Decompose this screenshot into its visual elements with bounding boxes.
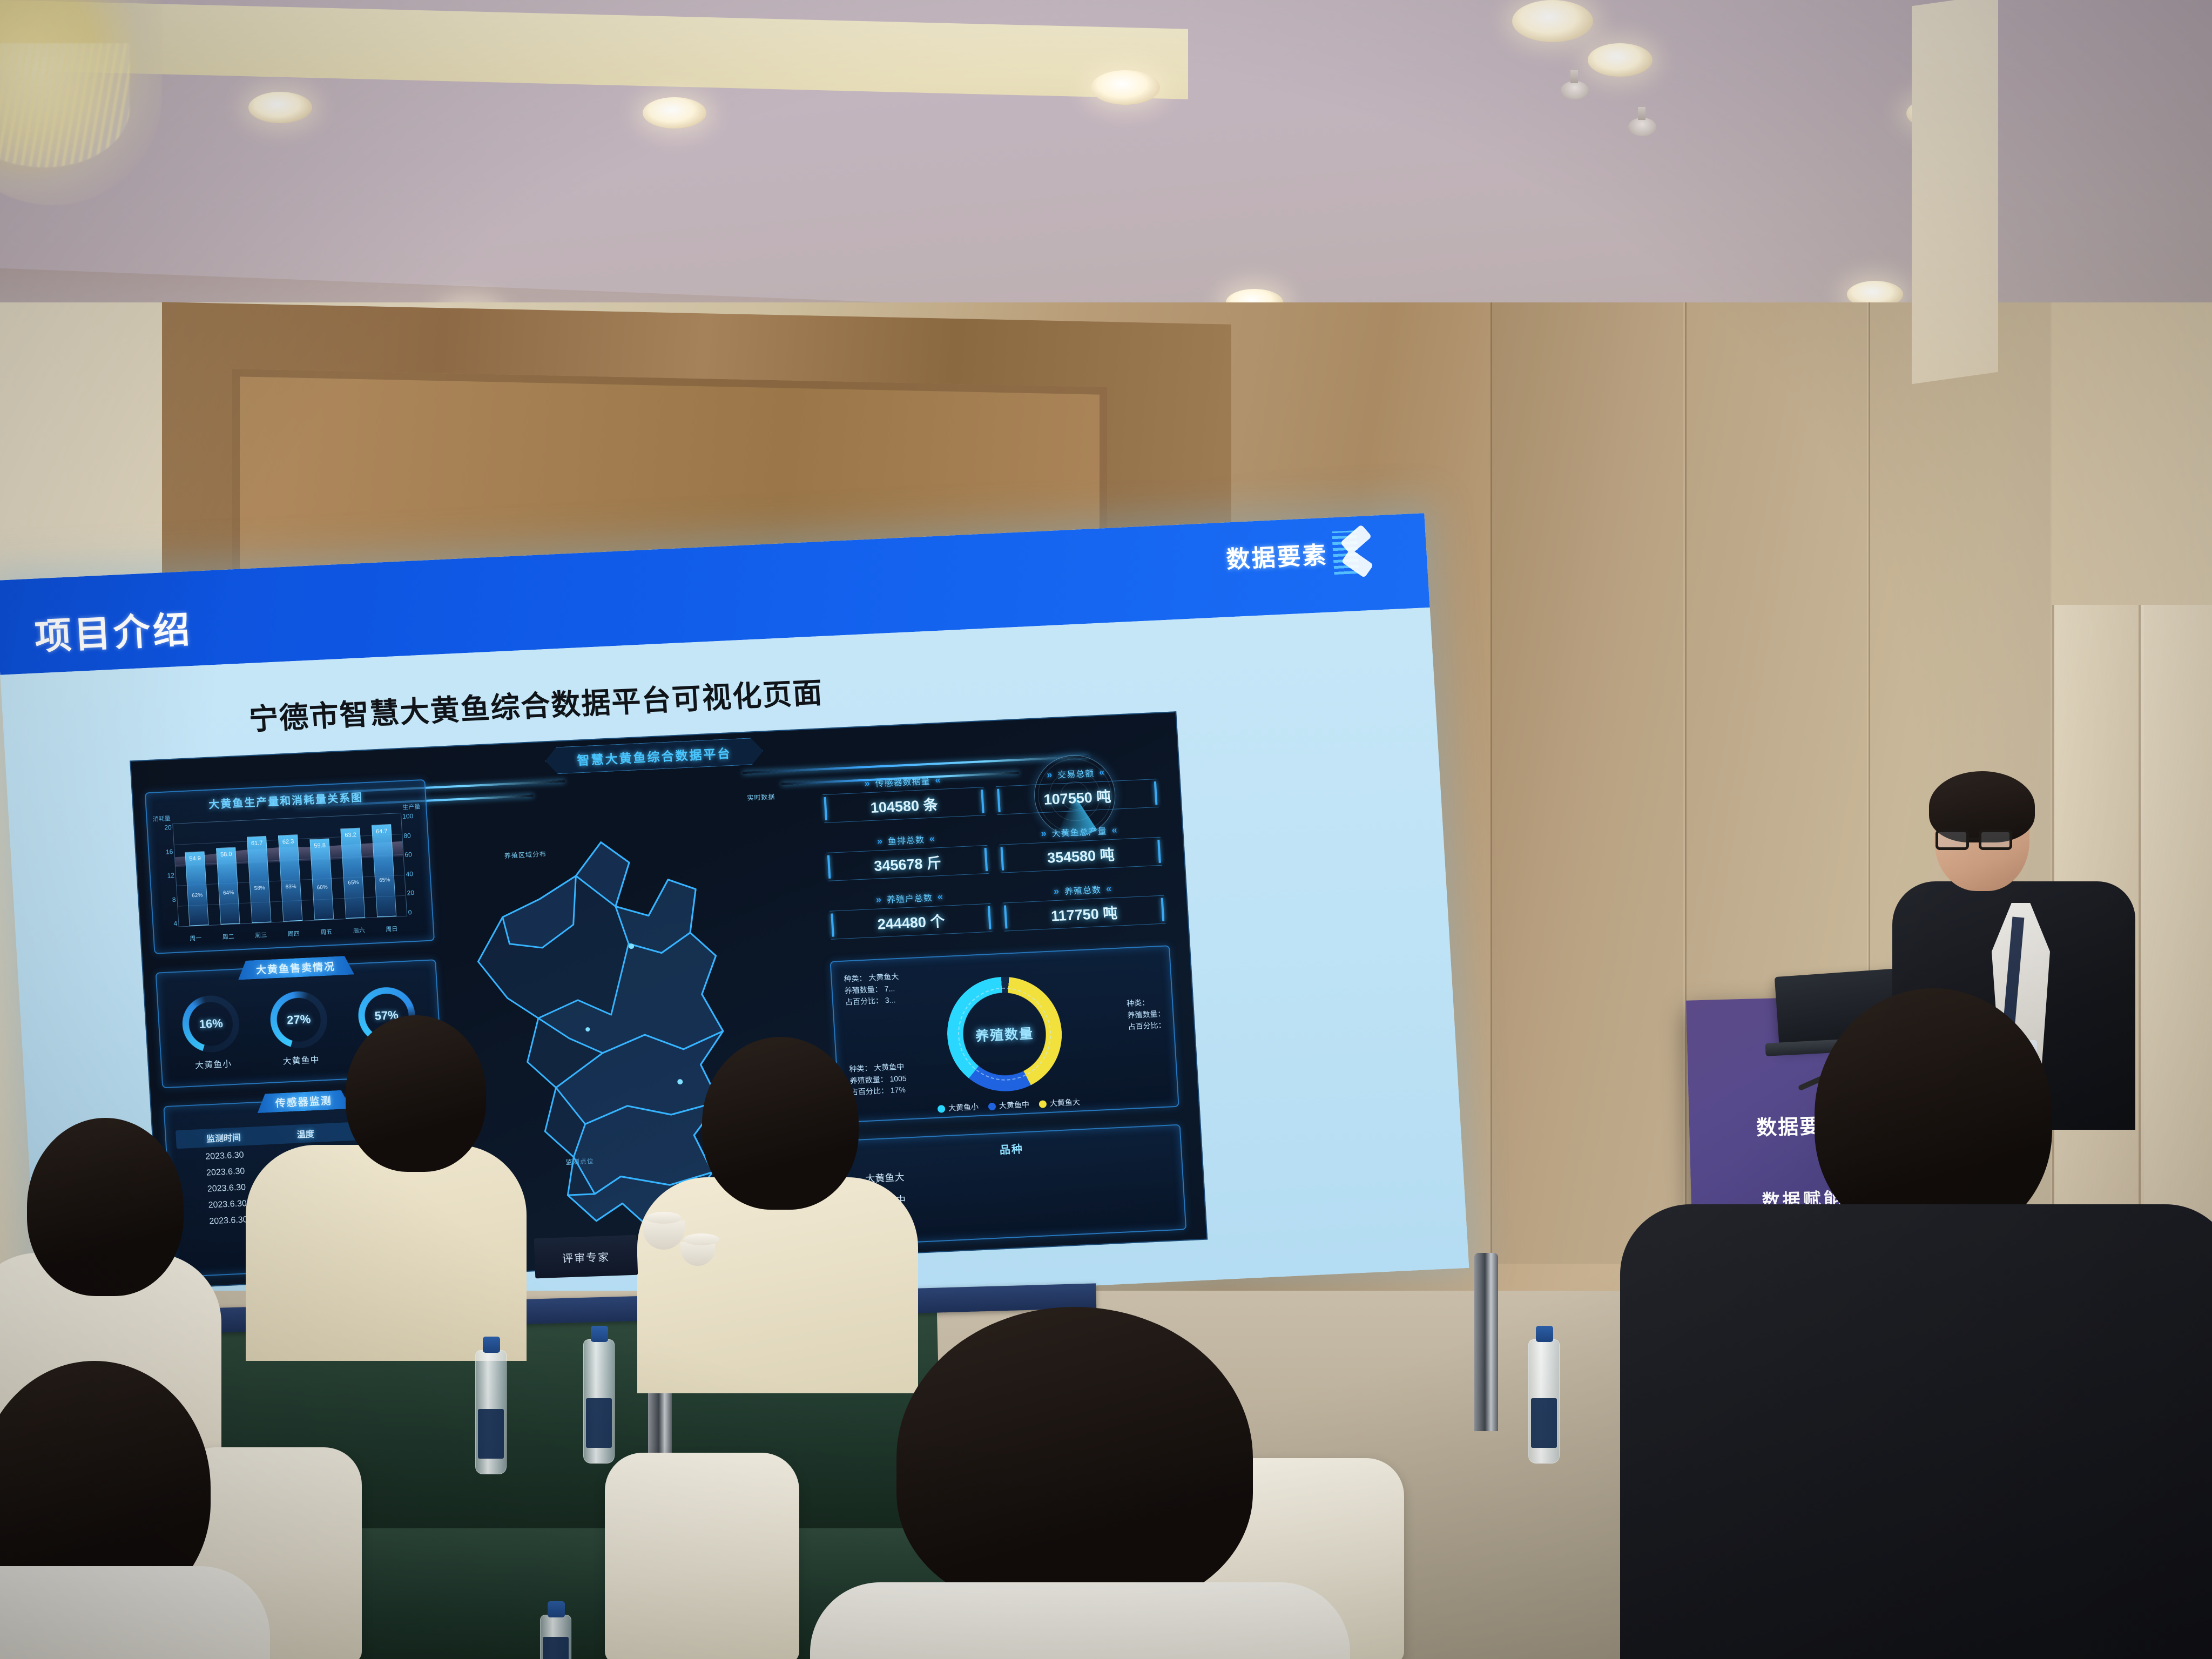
x-tick: 周三 [255, 930, 267, 940]
kpi-label: 传感器数据量 [875, 774, 930, 790]
chandelier-icon [0, 0, 162, 205]
conference-room-scene: 项目介绍 数据要素 宁德市智慧大黄鱼综合数据平台可视化页面 智慧大黄鱼综合数据平… [0, 0, 2212, 1659]
bottle-label [586, 1398, 612, 1448]
gauge-value: 27% [286, 1012, 311, 1027]
kpi-label: 交易总额 [1057, 766, 1095, 780]
aquaculture-donut-panel: 养殖数量 种类： 大黄鱼大 养殖数量： 7... 占百分比： 3... 种类： … [830, 945, 1179, 1123]
donut-note-top-left: 种类： 大黄鱼大 养殖数量： 7... 占百分比： 3... [844, 971, 901, 1009]
kpi-value: 345678 斤 [826, 845, 989, 881]
kpi-grid: » 传感器数据量 « 104580 条 » [821, 763, 1166, 954]
x-tick: 周四 [287, 929, 300, 938]
legend-item: 大黄鱼大 [1038, 1096, 1080, 1109]
y2-tick: 60 [404, 851, 412, 859]
name-card: 评审专家 [534, 1235, 638, 1279]
chevron-left-icon: « [1111, 824, 1118, 835]
kpi-card: » 大黄鱼总产量 « 354580 吨 [999, 821, 1163, 873]
gauge-label: 大黄鱼中 [272, 1052, 331, 1068]
chevron-left-icon: « [937, 891, 943, 902]
kpi-number: 117750 [1050, 906, 1099, 924]
cell: 2023.6.30 [184, 1165, 267, 1180]
gauge-value: 16% [199, 1016, 224, 1031]
column-header: 监测时间 [182, 1129, 265, 1146]
gauge-panel-title: 大黄鱼售卖情况 [237, 955, 354, 980]
ceiling-downlight-icon [1091, 70, 1160, 105]
bar-percent-label: 63% [285, 884, 296, 891]
y-tick: 20 [164, 824, 172, 832]
bar-value-label: 62.3 [282, 839, 294, 846]
audience-person [246, 1145, 527, 1361]
smoke-detector-icon [1561, 81, 1589, 99]
x-tick: 周日 [386, 925, 398, 934]
foreground-shoulders-left [0, 1566, 270, 1659]
variety-title: 品种 [999, 1140, 1024, 1157]
audience-head [346, 1015, 486, 1172]
kpi-number: 345678 [874, 856, 923, 874]
note-line: 占百分比： 3... [845, 994, 900, 1008]
ceiling-downlight-icon [1512, 0, 1593, 42]
kpi-label: 大黄鱼总产量 [1051, 824, 1107, 839]
kpi-label: 养殖户总数 [886, 891, 933, 906]
bar-value-label: 58.0 [220, 851, 232, 858]
water-bottle-icon [583, 1339, 615, 1464]
kpi-unit: 斤 [926, 855, 942, 872]
kpi-unit: 吨 [1102, 905, 1118, 922]
note-line: 占百分比： 17% [850, 1084, 907, 1099]
kpi-unit: 吨 [1096, 788, 1111, 805]
kpi-number: 244480 [877, 914, 927, 932]
y-tick: 8 [172, 895, 177, 903]
water-bottle-icon [540, 1615, 571, 1659]
audience-head [702, 1037, 859, 1210]
bar-percent-label: 62% [192, 893, 203, 899]
monitor-table-title: 传感器监测 [257, 1090, 351, 1113]
wall-panel [1491, 302, 1685, 1264]
dashboard-title: 智慧大黄鱼综合数据平台 [544, 737, 764, 774]
kpi-number: 354580 [1047, 847, 1096, 866]
kpi-label: 养殖总数 [1064, 882, 1101, 897]
legend-label: 大黄鱼中 [999, 1100, 1029, 1110]
legend-label: 大黄鱼大 [1049, 1097, 1080, 1108]
donut-note-right: 种类： 养殖数量： 占百分比： [1127, 996, 1166, 1033]
y-tick: 12 [167, 872, 174, 880]
chevron-right-icon: » [876, 835, 883, 847]
chevron-right-icon: » [864, 778, 871, 789]
chevron-left-icon: « [929, 833, 935, 844]
chart-bar: 59.8 60% [309, 838, 334, 920]
bar-value-label: 59.8 [314, 842, 326, 849]
gauge-item: 27% 大黄鱼中 [268, 989, 331, 1068]
ceiling-downlight-icon [1588, 43, 1653, 77]
bar-value-label: 63.2 [345, 832, 356, 839]
y2-tick: 20 [407, 889, 414, 897]
gauge-item: 16% 大黄鱼小 [180, 994, 243, 1072]
slide-section-title: 项目介绍 [33, 599, 194, 660]
x-tick: 周一 [190, 934, 202, 943]
y2-tick: 100 [402, 812, 414, 820]
y-tick: 4 [173, 920, 178, 927]
slide-subtitle: 宁德市智慧大黄鱼综合数据平台可视化页面 [247, 669, 824, 738]
kpi-number: 107550 [1043, 790, 1093, 808]
bottle-label [478, 1409, 504, 1459]
chart-y2label: 生产量 [402, 802, 421, 812]
legend-swatch-blue [988, 1103, 996, 1111]
water-bottle-icon [475, 1350, 507, 1474]
foreground-shoulders-center [810, 1582, 1350, 1659]
slide-brand-logo: 数据要素 [1225, 528, 1377, 581]
column-header: 温度 [264, 1125, 347, 1142]
kpi-value: 107550 吨 [996, 779, 1159, 815]
water-bottle-icon [1528, 1339, 1560, 1464]
donut-center-label: 养殖数量 [975, 1023, 1034, 1045]
chart-plot-area: 54.9 62% 58.0 64% 61.7 58% [172, 813, 407, 927]
y2-tick: 0 [408, 908, 412, 916]
donut-note-bottom-left: 种类： 大黄鱼中 养殖数量： 1005 占百分比： 17% [849, 1061, 908, 1098]
kpi-unit: 条 [923, 797, 939, 813]
chevron-left-icon: « [935, 774, 941, 785]
bar-percent-label: 65% [379, 877, 390, 884]
gauge-label: 大黄鱼小 [184, 1056, 242, 1071]
x-logo-icon [1335, 528, 1377, 576]
kpi-card: » 鱼排总数 « 345678 斤 [825, 829, 989, 881]
name-card-text: 评审专家 [562, 1248, 610, 1265]
legend-swatch-yellow [1039, 1101, 1047, 1109]
chart-bars: 54.9 62% 58.0 64% 61.7 58% [173, 813, 407, 927]
chart-y2-axis: 100 80 60 40 20 0 [402, 812, 431, 916]
bar-percent-label: 60% [316, 884, 328, 891]
legend-item: 大黄鱼中 [988, 1099, 1029, 1112]
kpi-number: 104580 [870, 798, 920, 816]
kpi-card: » 养殖户总数 « 244480 个 [828, 888, 993, 940]
chair [605, 1453, 799, 1659]
chevron-right-icon: » [1047, 769, 1053, 780]
legend-swatch-cyan [938, 1105, 946, 1113]
foreground-shoulders-right [1620, 1204, 2212, 1659]
ceiling-soffit [0, 0, 1188, 99]
y2-tick: 80 [403, 832, 411, 840]
kpi-card: » 传感器数据量 « 104580 条 [821, 771, 986, 823]
kpi-value: 354580 吨 [999, 837, 1162, 873]
map-label-top-right: 实时数据 [747, 792, 775, 802]
kpi-row: » 养殖户总数 « 244480 个 » [828, 880, 1165, 940]
cell: 2023.6.30 [184, 1149, 266, 1164]
x-tick: 周五 [320, 927, 333, 936]
slide-brand-text: 数据要素 [1225, 536, 1329, 575]
kpi-card: » 交易总额 « 107550 吨 [995, 763, 1159, 815]
chevron-left-icon: « [1105, 883, 1112, 894]
bar-value-label: 61.7 [251, 840, 263, 847]
kpi-unit: 个 [929, 913, 945, 930]
kpi-value: 104580 条 [822, 787, 986, 823]
bar-value-label: 54.9 [189, 855, 201, 862]
bar-percent-label: 65% [348, 879, 359, 886]
x-tick: 周六 [353, 926, 365, 935]
ceiling-downlight-icon [643, 97, 706, 129]
bar-percent-label: 64% [223, 890, 234, 896]
legend-item: 大黄鱼小 [937, 1101, 979, 1114]
kpi-card: » 养殖总数 « 117750 吨 [1002, 880, 1166, 932]
bottle-label [1531, 1398, 1557, 1448]
audience-head [27, 1118, 184, 1296]
kpi-unit: 吨 [1100, 847, 1115, 864]
donut-legend: 大黄鱼小 大黄鱼中 大黄鱼大 [937, 1096, 1080, 1114]
bar-percent-label: 58% [254, 885, 265, 892]
chart-bar: 61.7 58% [247, 836, 271, 923]
production-consumption-chart: 大黄鱼生产量和消耗量关系图 消耗量 生产量 20 16 12 8 4 100 8… [145, 779, 435, 954]
chevron-right-icon: » [875, 894, 882, 905]
chart-bar: 64.7 65% [372, 824, 396, 917]
ceiling-downlight-icon [248, 92, 312, 123]
chart-x-axis: 周一 周二 周三 周四 周五 周六 周日 [179, 924, 408, 943]
chart-bar: 63.2 65% [340, 827, 365, 919]
foreground-head-center [896, 1307, 1253, 1609]
y2-tick: 40 [406, 870, 413, 878]
stanchion-post [1474, 1253, 1498, 1431]
smoke-detector-icon [1628, 118, 1656, 136]
audience-person [637, 1177, 918, 1393]
kpi-label: 鱼排总数 [887, 832, 925, 847]
chart-bar: 54.9 62% [185, 851, 208, 926]
chart-bar: 62.3 63% [278, 834, 302, 921]
chevron-right-icon: » [1053, 885, 1060, 896]
wall-beam [1912, 0, 1998, 384]
legend-label: 大黄鱼小 [948, 1102, 979, 1112]
chevron-left-icon: « [1099, 766, 1105, 778]
kpi-value: 117750 吨 [1003, 895, 1166, 932]
chart-ylabel: 消耗量 [152, 814, 171, 824]
glasses-icon [1935, 829, 2018, 850]
bottle-label [543, 1637, 569, 1659]
kpi-row: » 鱼排总数 « 345678 斤 » [825, 821, 1162, 881]
kpi-value: 244480 个 [829, 903, 993, 940]
bar-value-label: 64.7 [376, 828, 388, 835]
y-tick: 16 [166, 847, 173, 855]
x-tick: 周二 [222, 932, 234, 941]
chart-title: 大黄鱼生产量和消耗量关系图 [208, 788, 363, 811]
chevron-right-icon: » [1041, 827, 1047, 839]
chart-bar: 58.0 64% [216, 847, 240, 925]
kpi-row: » 传感器数据量 « 104580 条 » [821, 763, 1158, 823]
note-line: 占百分比： [1128, 1020, 1166, 1033]
